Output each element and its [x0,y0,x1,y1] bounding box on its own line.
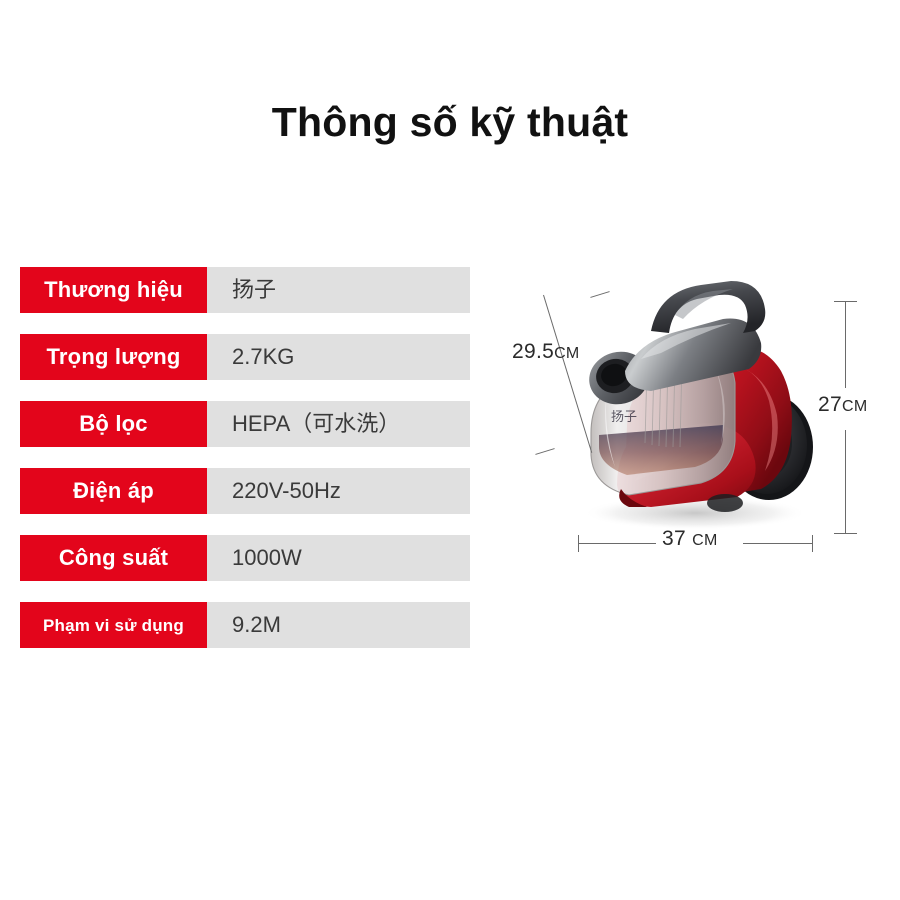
spec-label-power: Công suất [20,535,207,581]
dimension-unit-height-vertical: CM [842,398,867,415]
dimension-cap-height-bottom [834,533,857,534]
table-row: Bộ lọc HEPA（可水洗） [20,401,470,447]
spec-label-weight: Trọng lượng [20,334,207,380]
dimension-line-width-right [743,543,812,544]
spec-value-weight: 2.7KG [207,334,470,380]
spec-label-brand: Thương hiệu [20,267,207,313]
table-row: Thương hiệu 扬子 [20,267,470,313]
spec-sheet-page: Thông số kỹ thuật Thương hiệu 扬子 Trọng l… [0,0,900,900]
spec-table: Thương hiệu 扬子 Trọng lượng 2.7KG Bộ lọc … [20,267,470,669]
dimension-label-width: 37 CM [662,527,718,551]
spec-value-voltage: 220V-50Hz [207,468,470,514]
dimension-number-width: 37 [662,527,692,550]
dimension-line-width-left [578,543,656,544]
table-row: Điện áp 220V-50Hz [20,468,470,514]
vacuum-cleaner-image: 扬子 [555,275,830,540]
svg-text:扬子: 扬子 [611,410,637,425]
table-row: Phạm vi sử dụng 9.2M [20,602,470,648]
spec-label-voltage: Điện áp [20,468,207,514]
dimension-unit-width: CM [692,532,717,549]
product-figure: 扬子 [500,255,900,585]
dimension-cap-width-left [578,535,579,552]
dimension-cap-height-top [834,301,857,302]
dimension-label-height-diagonal: 29.5CM [512,340,580,364]
spec-value-filter: HEPA（可水洗） [207,401,470,447]
dimension-label-height-vertical: 27CM [818,393,867,417]
table-row: Công suất 1000W [20,535,470,581]
dimension-number-height-vertical: 27 [818,393,842,416]
dimension-number-height-diagonal: 29.5 [512,340,554,363]
spec-label-range: Phạm vi sử dụng [20,602,207,648]
dimension-line-height-top [845,301,846,388]
dimension-cap-diagonal-bottom [535,448,554,455]
dimension-cap-width-right [812,535,813,552]
dimension-unit-height-diagonal: CM [554,345,579,362]
spec-value-range: 9.2M [207,602,470,648]
table-row: Trọng lượng 2.7KG [20,334,470,380]
spec-value-brand: 扬子 [207,267,470,313]
spec-label-filter: Bộ lọc [20,401,207,447]
dimension-line-height-bottom [845,430,846,533]
spec-value-power: 1000W [207,535,470,581]
page-title: Thông số kỹ thuật [0,98,900,147]
